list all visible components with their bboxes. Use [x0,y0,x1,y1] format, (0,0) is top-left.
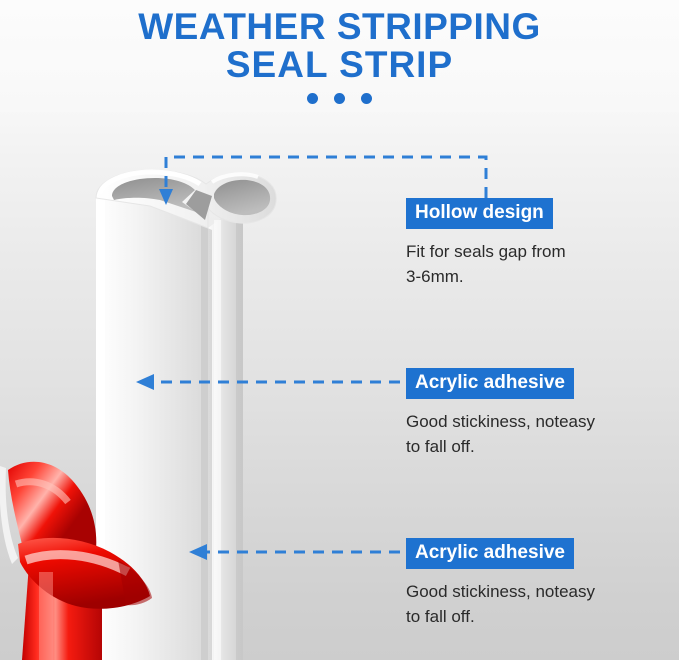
callout-acrylic-adhesive-lower: Acrylic adhesive Good stickiness, noteas… [406,538,595,629]
callout-hollow-design: Hollow design Fit for seals gap from 3-6… [406,198,566,289]
callout-description-hollow-design: Fit for seals gap from 3-6mm. [406,239,566,289]
strip-groove-shadow [201,225,212,660]
dot-icon [361,93,372,104]
header-banner: WEATHER STRIPPING SEAL STRIP [0,0,679,112]
callout-label-hollow-design: Hollow design [406,198,553,229]
strip-right-highlight [214,220,221,660]
page-title-line-2: SEAL STRIP [0,46,679,84]
page-title-line-1: WEATHER STRIPPING [0,8,679,46]
callout-description-acrylic-adhesive-upper: Good stickiness, noteasy to fall off. [406,409,595,459]
callout-label-acrylic-adhesive-upper: Acrylic adhesive [406,368,574,399]
decorative-dots [0,93,679,104]
strip-right-edge-shade [236,205,243,660]
callout-description-acrylic-adhesive-lower: Good stickiness, noteasy to fall off. [406,579,595,629]
callout-label-acrylic-adhesive-lower: Acrylic adhesive [406,538,574,569]
callout-acrylic-adhesive-upper: Acrylic adhesive Good stickiness, noteas… [406,368,595,459]
dot-icon [334,93,345,104]
product-illustration [0,120,420,660]
product-infographic: WEATHER STRIPPING SEAL STRIP [0,0,679,660]
dot-icon [307,93,318,104]
